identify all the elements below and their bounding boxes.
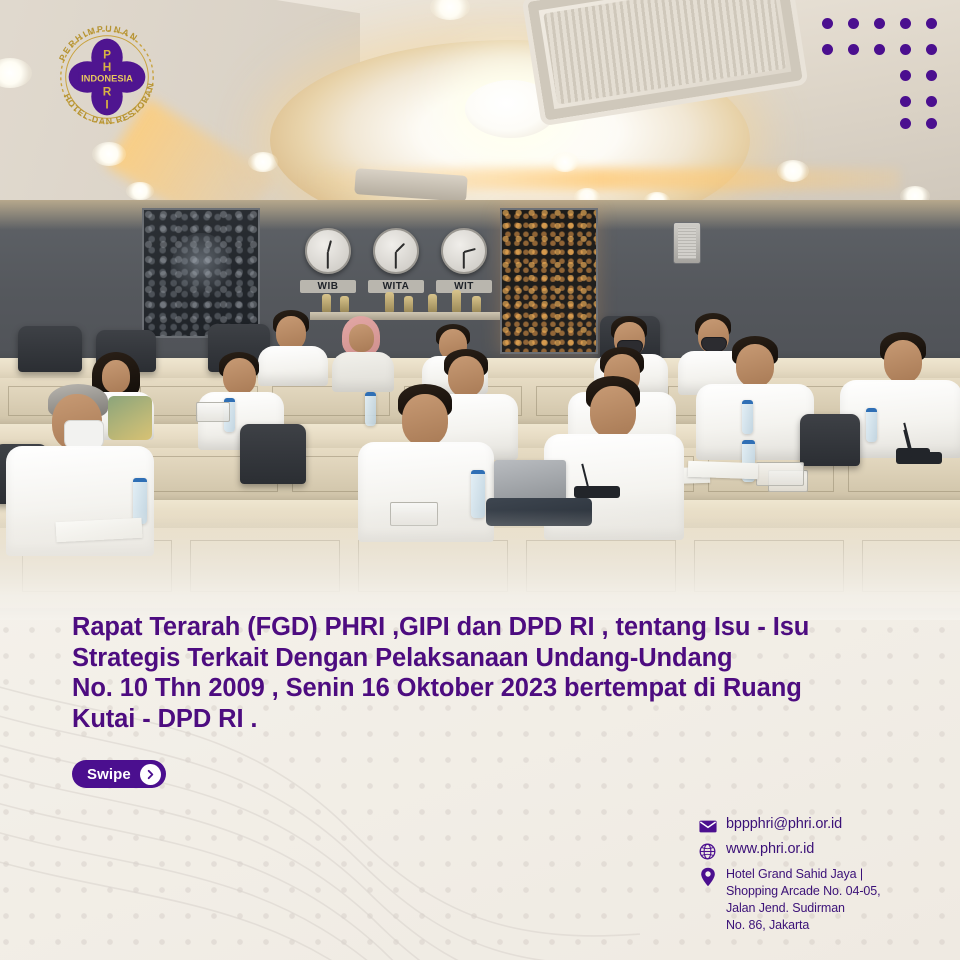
contact-address-row: Hotel Grand Sahid Jaya | Shopping Arcade…: [698, 866, 938, 934]
chevron-right-icon: [140, 764, 161, 785]
logo-letter-i: I: [105, 97, 108, 111]
snack-box: [196, 402, 230, 422]
carved-wall-panel-right: [500, 208, 598, 354]
snack-box: [756, 462, 804, 486]
microphone: [574, 486, 620, 498]
wall-speaker: [673, 222, 701, 264]
clock-label-wita: WITA: [368, 280, 424, 293]
trophy: [452, 290, 461, 312]
wall-clock-wib: [305, 228, 351, 274]
logo-country-label: INDONESIA: [81, 73, 133, 83]
trophy: [404, 296, 413, 312]
logo-letter-h: H: [103, 60, 112, 74]
photo-fade-overlay: [0, 510, 960, 620]
wall-clock-wita: [373, 228, 419, 274]
page-title: Rapat Terarah (FGD) PHRI ,GIPI dan DPD R…: [72, 612, 902, 735]
contact-address-value: Hotel Grand Sahid Jaya | Shopping Arcade…: [726, 866, 880, 934]
globe-icon: [698, 842, 717, 861]
water-bottle: [866, 408, 877, 442]
chair: [800, 414, 860, 466]
contact-website-value: www.phri.or.id: [726, 841, 814, 858]
documents: [688, 461, 759, 479]
chair: [18, 326, 82, 372]
trophy: [322, 294, 331, 312]
clock-label-wib: WIB: [300, 280, 356, 293]
envelope-icon: [698, 817, 717, 836]
water-bottle: [365, 392, 376, 426]
trophy: [472, 296, 481, 312]
trophy-shelf: [310, 312, 500, 320]
wall-clock-wit: [441, 228, 487, 274]
swipe-button[interactable]: Swipe: [72, 760, 166, 788]
chair: [240, 424, 306, 484]
contact-email-value: bppphri@phri.or.id: [726, 816, 842, 833]
contact-email-row[interactable]: bppphri@phri.or.id: [698, 816, 938, 836]
map-pin-icon: [698, 867, 717, 886]
clock-label-wit: WIT: [436, 280, 492, 293]
trophy: [340, 296, 349, 312]
dot-grid-pattern: [822, 18, 940, 130]
contact-website-row[interactable]: www.phri.or.id: [698, 841, 938, 861]
carved-wall-panel-left: [142, 208, 260, 338]
trophy: [385, 292, 394, 312]
swipe-button-label: Swipe: [87, 767, 131, 782]
contact-block: bppphri@phri.or.id www.phri.or.id: [698, 816, 938, 939]
poster-canvas: WIB WITA WIT: [0, 0, 960, 960]
water-bottle: [742, 400, 753, 434]
microphone: [896, 452, 942, 464]
phri-logo: P H R I INDONESIA PERHIMPUNAN HOTEL DAN …: [48, 18, 166, 136]
trophy: [428, 294, 437, 312]
